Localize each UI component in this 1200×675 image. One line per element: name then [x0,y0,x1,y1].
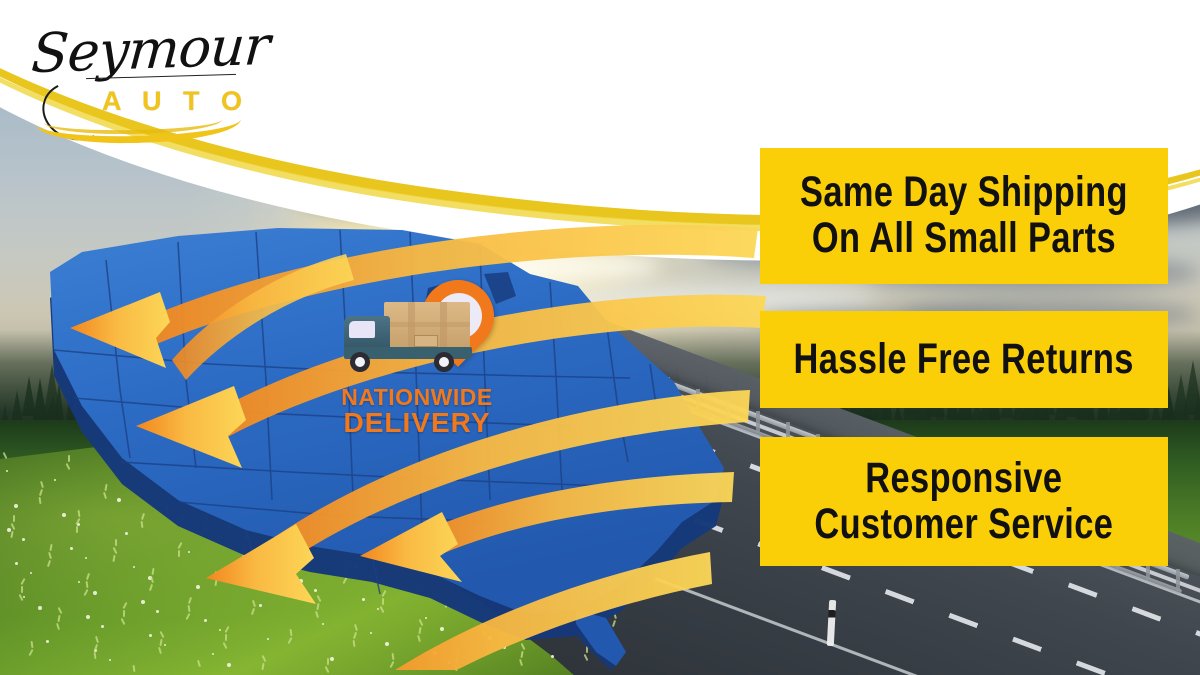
callout-2-line2: Customer Service [815,502,1114,548]
callout-2-line1: Responsive [815,456,1114,502]
truck-window [349,321,375,338]
callout-0-line2: On All Small Parts [800,216,1128,262]
cargo-label-icon [414,335,438,347]
callout-hassle-free-returns[interactable]: Hassle Free Returns [760,311,1168,408]
callout-0-line1: Same Day Shipping [800,170,1128,216]
delivery-label-line2: DELIVERY [324,409,510,438]
truck-wheel-front [350,352,370,372]
nationwide-delivery-badge: NATIONWIDE DELIVERY [330,278,500,448]
callout-1-line1: Hassle Free Returns [794,337,1134,383]
delivery-truck-icon [336,300,476,380]
promotional-banner: Seymour A U T O [0,0,1200,675]
logo-subtitle: A U T O [102,86,249,117]
truck-wheel-rear [434,352,454,372]
delivery-label-line1: NATIONWIDE [324,386,510,409]
callout-same-day-shipping[interactable]: Same Day Shipping On All Small Parts [760,148,1168,284]
callout-responsive-customer-service[interactable]: Responsive Customer Service [760,437,1168,566]
nationwide-delivery-label: NATIONWIDE DELIVERY [324,386,510,438]
company-logo[interactable]: Seymour A U T O [24,22,254,137]
